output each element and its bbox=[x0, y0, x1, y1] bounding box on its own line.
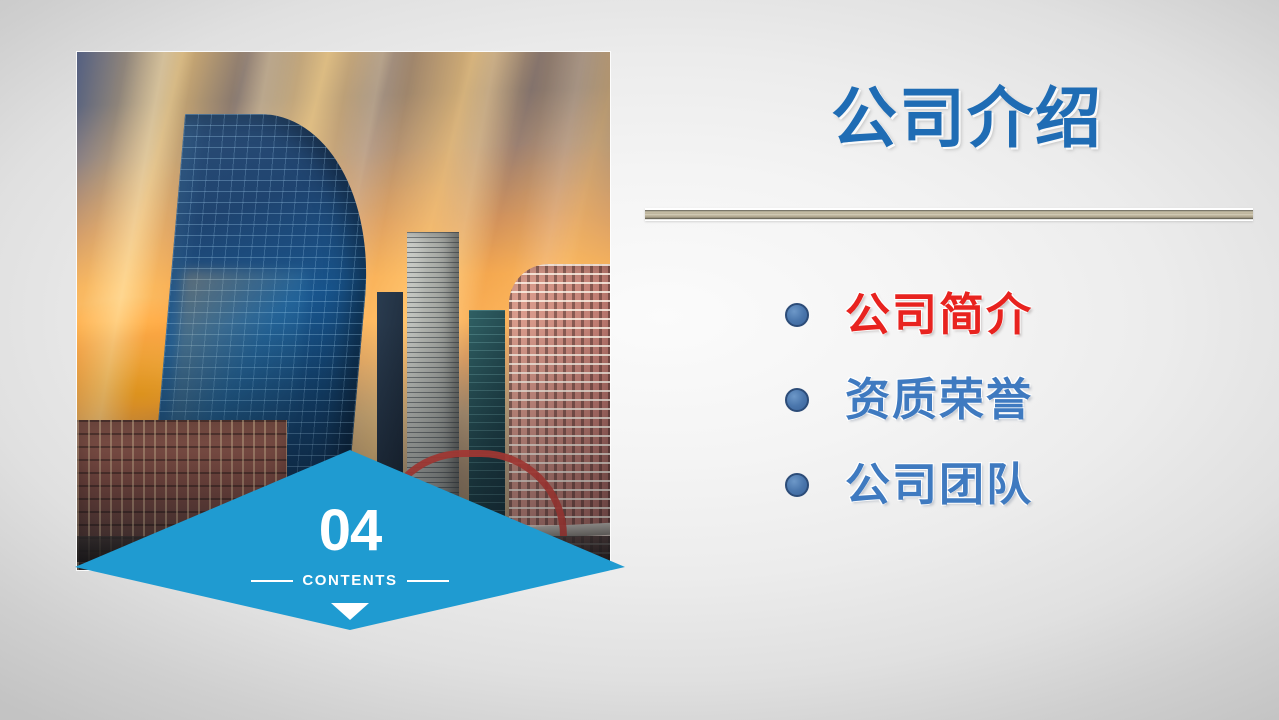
list-item[interactable]: 公司简介 bbox=[785, 292, 1033, 337]
page-title: 公司介绍 bbox=[831, 84, 1103, 153]
title-divider bbox=[645, 208, 1253, 221]
list-item[interactable]: 公司团队 bbox=[785, 462, 1033, 507]
bullet-dot-icon bbox=[785, 388, 809, 412]
list-item[interactable]: 资质荣誉 bbox=[785, 377, 1033, 422]
presentation-slide: 04 CONTENTS 公司介绍 公司简介 资质荣誉 公司团队 bbox=[0, 0, 1279, 720]
bullet-dot-icon bbox=[785, 303, 809, 327]
agenda-item-label: 资质荣誉 bbox=[845, 377, 1033, 422]
slide-content-column: 公司介绍 公司简介 资质荣誉 公司团队 bbox=[645, 52, 1255, 572]
agenda-item-label: 公司简介 bbox=[845, 292, 1033, 337]
agenda-list: 公司简介 资质荣誉 公司团队 bbox=[785, 292, 1033, 507]
bullet-dot-icon bbox=[785, 473, 809, 497]
agenda-item-label: 公司团队 bbox=[845, 462, 1033, 507]
